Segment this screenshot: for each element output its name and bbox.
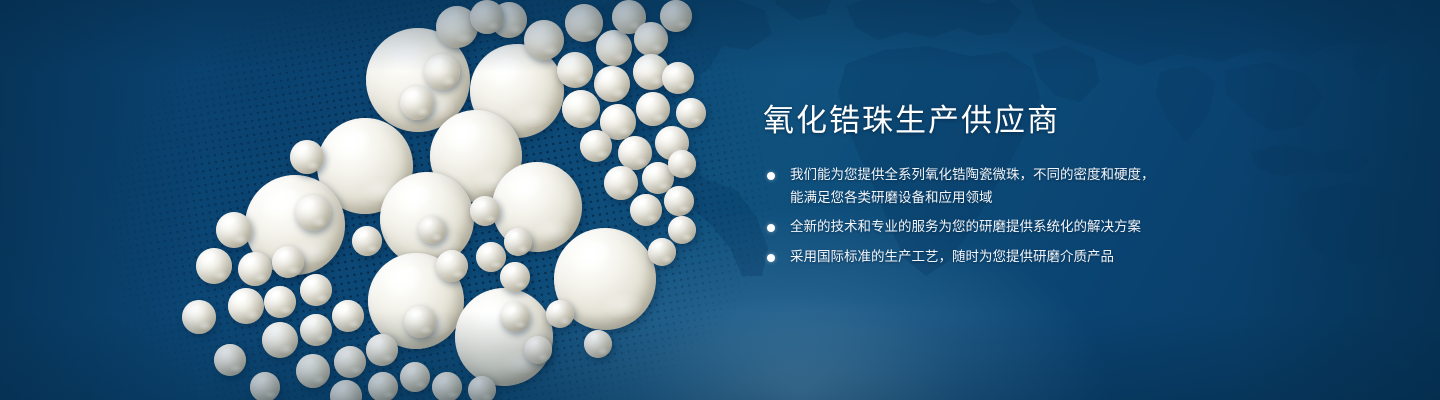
hero-banner: 氧化锆珠生产供应商 我们能为您提供全系列氧化锆陶瓷微珠，不同的密度和硬度，能满足…	[0, 0, 1440, 400]
feature-bullet-line: 我们能为您提供全系列氧化锆陶瓷微珠，不同的密度和硬度，	[790, 164, 1233, 187]
feature-bullet-line: 采用国际标准的生产工艺，随时为您提供研磨介质产品	[790, 246, 1233, 269]
bullet-dot-icon	[767, 172, 775, 180]
feature-bullet-line: 全新的技术和专业的服务为您的研磨提供系统化的解决方案	[790, 216, 1233, 239]
feature-bullet-list: 我们能为您提供全系列氧化锆陶瓷微珠，不同的密度和硬度，能满足您各类研磨设备和应用…	[763, 164, 1233, 268]
page-title: 氧化锆珠生产供应商	[763, 104, 1233, 138]
feature-bullet-line: 能满足您各类研磨设备和应用领域	[790, 187, 1233, 210]
bullet-dot-icon	[767, 224, 775, 232]
feature-bullet: 我们能为您提供全系列氧化锆陶瓷微珠，不同的密度和硬度，能满足您各类研磨设备和应用…	[763, 164, 1233, 209]
bullet-dot-icon	[767, 254, 775, 262]
banner-copy: 氧化锆珠生产供应商 我们能为您提供全系列氧化锆陶瓷微珠，不同的密度和硬度，能满足…	[763, 104, 1233, 268]
feature-bullet: 全新的技术和专业的服务为您的研磨提供系统化的解决方案	[763, 216, 1233, 239]
feature-bullet: 采用国际标准的生产工艺，随时为您提供研磨介质产品	[763, 246, 1233, 269]
